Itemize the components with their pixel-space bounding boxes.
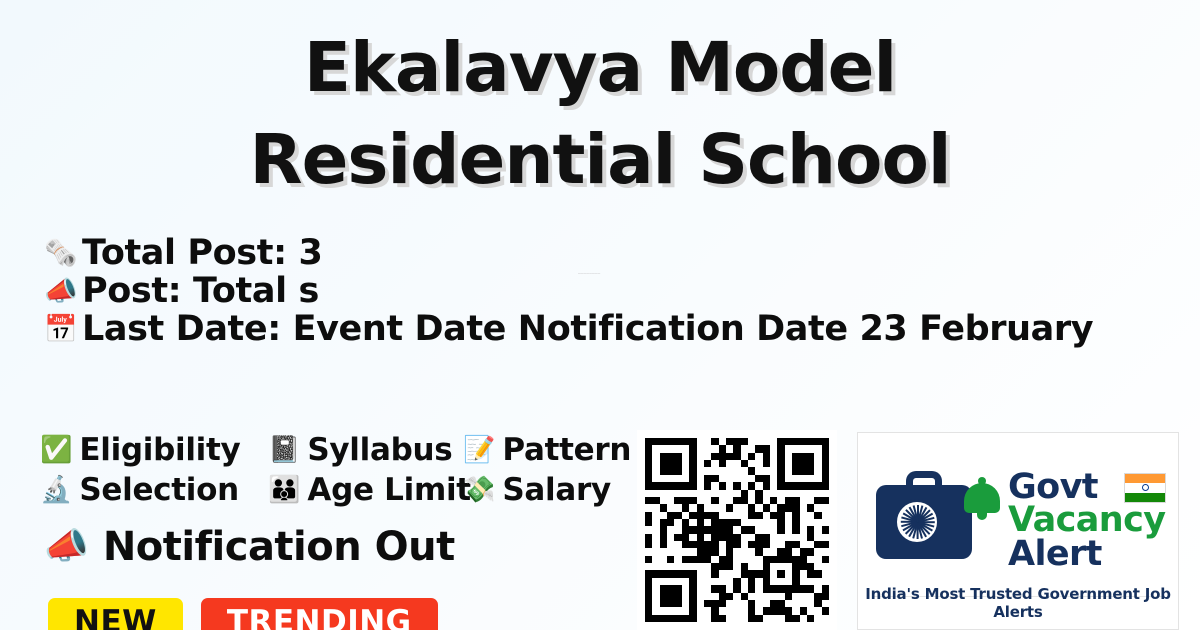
feature-label: Salary: [502, 472, 611, 508]
status-badge-new: NEW: [48, 598, 183, 630]
info-total-post: Total Post: 3: [82, 233, 322, 273]
info-list: 🗞️ Total Post: 3 📣 Post: Total s 📅 Last …: [0, 234, 1200, 348]
feature-selection: 🔬 Selection: [40, 472, 268, 508]
feature-syllabus: 📓 Syllabus: [268, 432, 463, 468]
feature-row: 🔬 Selection 👪 Age Limit 💸 Salary: [40, 470, 660, 510]
page-title: Ekalavya Model Residential School: [0, 0, 1200, 206]
feature-label: Syllabus: [307, 432, 452, 468]
family-icon: 👪: [268, 477, 300, 503]
feature-label: Selection: [79, 472, 239, 508]
info-row: 🗞️ Total Post: 3: [44, 234, 1200, 272]
bell-icon: [962, 477, 1002, 519]
feature-eligibility: ✅ Eligibility: [40, 432, 268, 468]
qr-code[interactable]: [637, 430, 837, 630]
badge-row: NEW TRENDING: [48, 598, 438, 630]
title-line-2: Residential School: [0, 114, 1200, 206]
feature-label: Age Limit: [307, 472, 470, 508]
brand-line-2: Vacancy: [1008, 504, 1165, 537]
status-badge-trending: TRENDING: [201, 598, 438, 630]
qr-code-matrix: [645, 438, 829, 622]
title-line-1: Ekalavya Model: [0, 22, 1200, 114]
check-mark-icon: ✅: [40, 437, 72, 463]
brand-tagline: India's Most Trusted Government Job Aler…: [858, 585, 1178, 621]
feature-grid: ✅ Eligibility 📓 Syllabus 📝 Pattern 🔬 Sel…: [40, 430, 660, 510]
brand-logo-card: Govt Vacancy Alert India's Most Trusted …: [857, 432, 1179, 630]
feature-label: Eligibility: [79, 432, 240, 468]
poster-canvas: Ekalavya Model Residential School 🗞️ Tot…: [0, 0, 1200, 630]
divider-mark: ________: [578, 268, 622, 274]
feature-salary: 💸 Salary: [463, 472, 611, 508]
exam-paper-icon: 📝: [463, 437, 495, 463]
microscope-icon: 🔬: [40, 477, 72, 503]
info-row: 📅 Last Date: Event Date Notification Dat…: [44, 310, 1200, 348]
notebook-icon: 📓: [268, 437, 300, 463]
feature-label: Pattern: [502, 432, 631, 468]
money-hand-icon: 💸: [463, 477, 495, 503]
document-icon: 🗞️: [44, 240, 82, 267]
info-row: 📣 Post: Total s: [44, 272, 1200, 310]
india-flag-icon: [1124, 473, 1166, 503]
notification-out: 📣 Notification Out: [44, 524, 455, 570]
info-last-date: Last Date: Event Date Notification Date …: [82, 309, 1093, 349]
calendar-icon: 📅: [44, 316, 82, 343]
feature-age-limit: 👪 Age Limit: [268, 472, 463, 508]
feature-row: ✅ Eligibility 📓 Syllabus 📝 Pattern: [40, 430, 660, 470]
notification-label: Notification Out: [103, 524, 455, 570]
feature-pattern: 📝 Pattern: [463, 432, 631, 468]
announcement-icon: 📣: [44, 529, 89, 565]
info-post: Post: Total s: [82, 271, 319, 311]
brand-line-3: Alert: [1008, 538, 1165, 571]
megaphone-icon: 📣: [44, 278, 82, 305]
ashoka-chakra-icon: [894, 499, 940, 545]
